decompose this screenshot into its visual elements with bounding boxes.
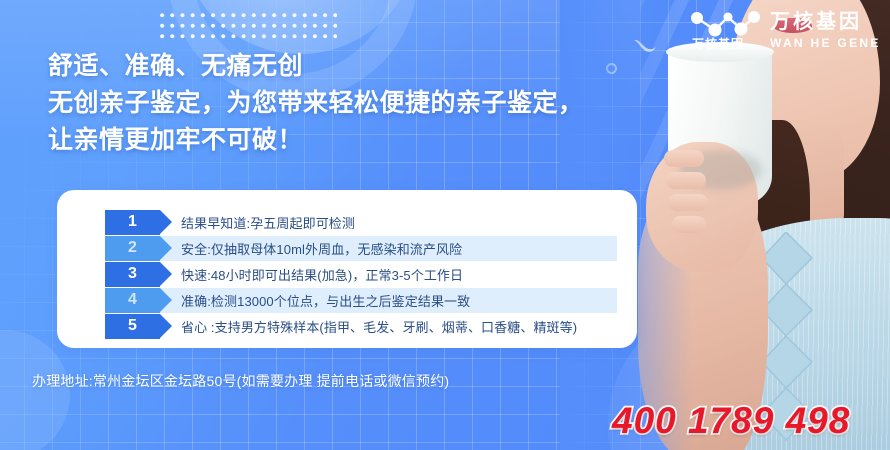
feature-row: 1 结果早知道:孕五周起即可检测 (105, 210, 617, 235)
feature-number: 1 (128, 213, 137, 231)
feature-number: 3 (128, 265, 137, 283)
feature-number: 5 (128, 317, 137, 335)
headline-line-1: 舒适、准确、无痛无创 (48, 48, 584, 85)
feature-text: 安全:仅抽取母体10ml外周血，无感染和流产风险 (160, 236, 617, 261)
logo-mark-label: 万核基因 (692, 35, 744, 52)
feature-text: 结果早知道:孕五周起即可检测 (160, 210, 617, 235)
feature-text: 准确:检测13000个位点，与出生之后鉴定结果一致 (160, 288, 617, 313)
headline: 舒适、准确、无痛无创 无创亲子鉴定，为您带来轻松便捷的亲子鉴定， 让亲情更加牢不… (48, 48, 584, 159)
feature-number: 2 (128, 239, 137, 257)
feature-row: 2 安全:仅抽取母体10ml外周血，无感染和流产风险 (105, 236, 617, 261)
feature-row: 3 快速:48小时即可出结果(加急)，正常3-5个工作日 (105, 262, 617, 287)
feature-number-badge: 4 (105, 288, 160, 313)
headline-line-3: 让亲情更加牢不可破！ (48, 122, 584, 159)
feature-list: 1 结果早知道:孕五周起即可检测 2 安全:仅抽取母体10ml外周血，无感染和流… (105, 210, 617, 340)
decor-arc-glow (180, 0, 420, 54)
feature-row: 4 准确:检测13000个位点，与出生之后鉴定结果一致 (105, 288, 617, 313)
molecule-icon: 万核基因 (688, 8, 762, 52)
brand-name-group: 万核基因 WAN HE GENE (770, 12, 881, 49)
decor-dot-grid-top (157, 10, 337, 40)
feature-text: 省心 :支持男方特殊样本(指甲、毛发、牙刷、烟蒂、口香糖、精斑等) (160, 314, 617, 339)
address-text: 办理地址:常州金坛区金坛路50号(如需要办理 提前电话或微信预约) (32, 371, 449, 391)
feature-number: 4 (128, 291, 137, 309)
photo-finger (664, 150, 704, 167)
brand-logo[interactable]: 万核基因 万核基因 WAN HE GENE (688, 8, 881, 52)
promo-banner: 万核基因 万核基因 WAN HE GENE 舒适、准确、无痛无创 无创亲子鉴定，… (0, 0, 890, 450)
photo-finger (672, 216, 706, 233)
brand-name-en: WAN HE GENE (770, 37, 881, 49)
phone-number[interactable]: 400 1789 498 (612, 400, 850, 442)
feature-number-badge: 2 (105, 236, 160, 261)
feature-row: 5 省心 :支持男方特殊样本(指甲、毛发、牙刷、烟蒂、口香糖、精斑等) (105, 314, 617, 339)
feature-text: 快速:48小时即可出结果(加急)，正常3-5个工作日 (160, 262, 617, 287)
feature-number-badge: 3 (105, 262, 160, 287)
headline-line-2: 无创亲子鉴定，为您带来轻松便捷的亲子鉴定， (48, 85, 584, 122)
feature-card: 1 结果早知道:孕五周起即可检测 2 安全:仅抽取母体10ml外周血，无感染和流… (57, 190, 637, 348)
brand-name-cn: 万核基因 (770, 12, 881, 32)
photo-finger (666, 172, 706, 189)
feature-number-badge: 1 (105, 210, 160, 235)
feature-number-badge: 5 (105, 314, 160, 339)
photo-finger (668, 194, 708, 211)
